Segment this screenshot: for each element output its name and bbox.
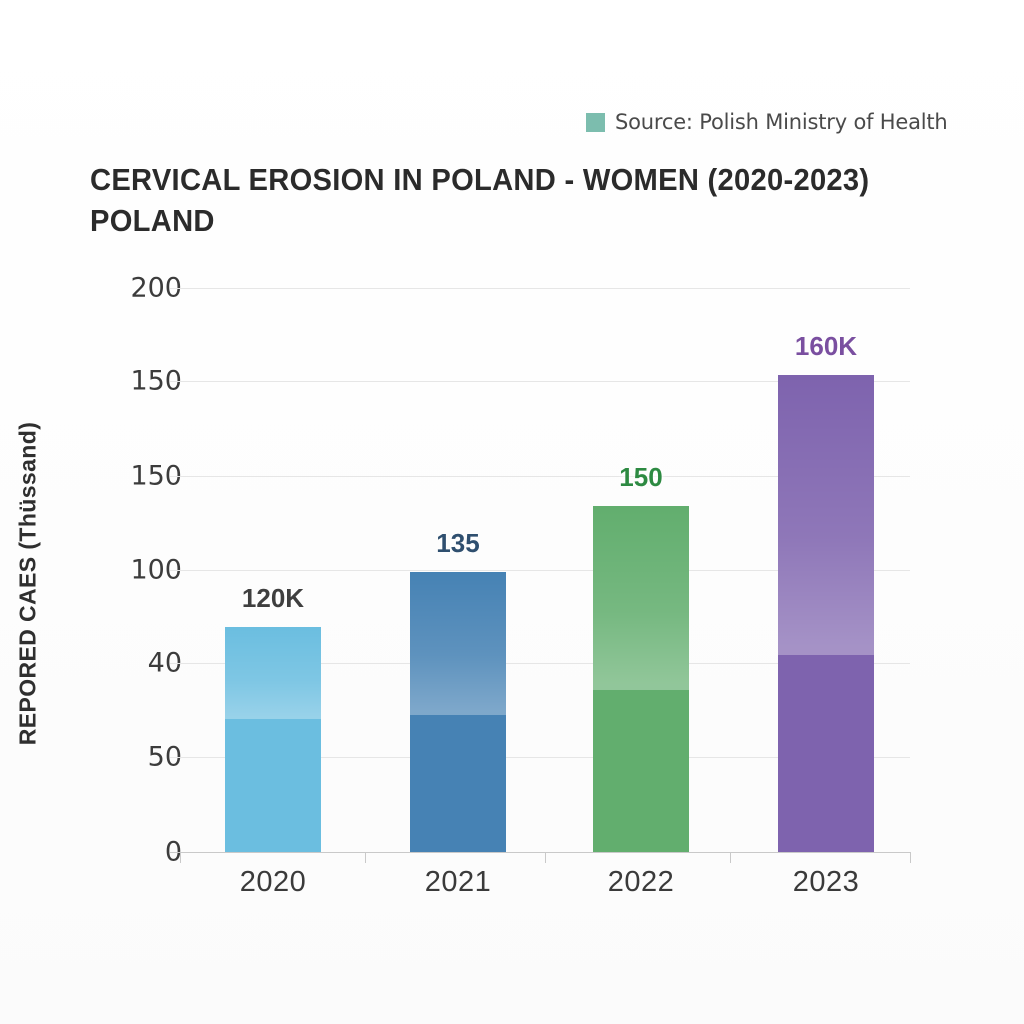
bar-value-label: 120K <box>242 583 304 614</box>
legend-label: Source: Polish Ministry of Health <box>615 110 948 134</box>
chart-title-line-1: CERVICAL EROSION IN POLAND - WOMEN (2020… <box>90 160 927 201</box>
bar-value-label: 160K <box>795 331 857 362</box>
x-tick-label: 2021 <box>368 866 548 899</box>
chart-title: CERVICAL EROSION IN POLAND - WOMEN (2020… <box>90 160 927 242</box>
y-tick-label: 100 <box>62 555 182 586</box>
bar-highlight <box>593 506 689 690</box>
gridline <box>170 288 910 289</box>
bar-highlight <box>778 375 874 655</box>
y-tick-label: 150 <box>62 366 182 397</box>
y-tick-label: 0 <box>62 837 182 868</box>
legend-swatch-icon <box>586 113 605 132</box>
bar[interactable] <box>225 627 321 852</box>
chart-title-line-2: POLAND <box>90 201 927 242</box>
bar-highlight <box>410 572 506 715</box>
x-tick-label: 2023 <box>736 866 916 899</box>
x-tick-mark <box>180 852 181 863</box>
chart-legend: Source: Polish Ministry of Health <box>586 110 948 134</box>
chart-container: Source: Polish Ministry of Health CERVIC… <box>0 0 1024 1024</box>
bar[interactable] <box>593 506 689 852</box>
bar-value-label: 135 <box>436 528 479 559</box>
y-tick-label: 40 <box>62 648 182 679</box>
y-tick-label: 150 <box>62 461 182 492</box>
x-tick-label: 2020 <box>183 866 363 899</box>
bar[interactable] <box>778 375 874 852</box>
x-tick-mark <box>910 852 911 863</box>
y-tick-label: 50 <box>62 742 182 773</box>
x-tick-label: 2022 <box>551 866 731 899</box>
x-tick-mark <box>730 852 731 863</box>
y-axis-label: REPORED CAES (Thüssand) <box>15 264 42 904</box>
bar-highlight <box>225 627 321 719</box>
y-tick-label: 200 <box>62 273 182 304</box>
x-tick-mark <box>545 852 546 863</box>
bar-value-label: 150 <box>619 462 662 493</box>
x-tick-mark <box>365 852 366 863</box>
x-axis-line <box>170 852 910 853</box>
bar[interactable] <box>410 572 506 852</box>
